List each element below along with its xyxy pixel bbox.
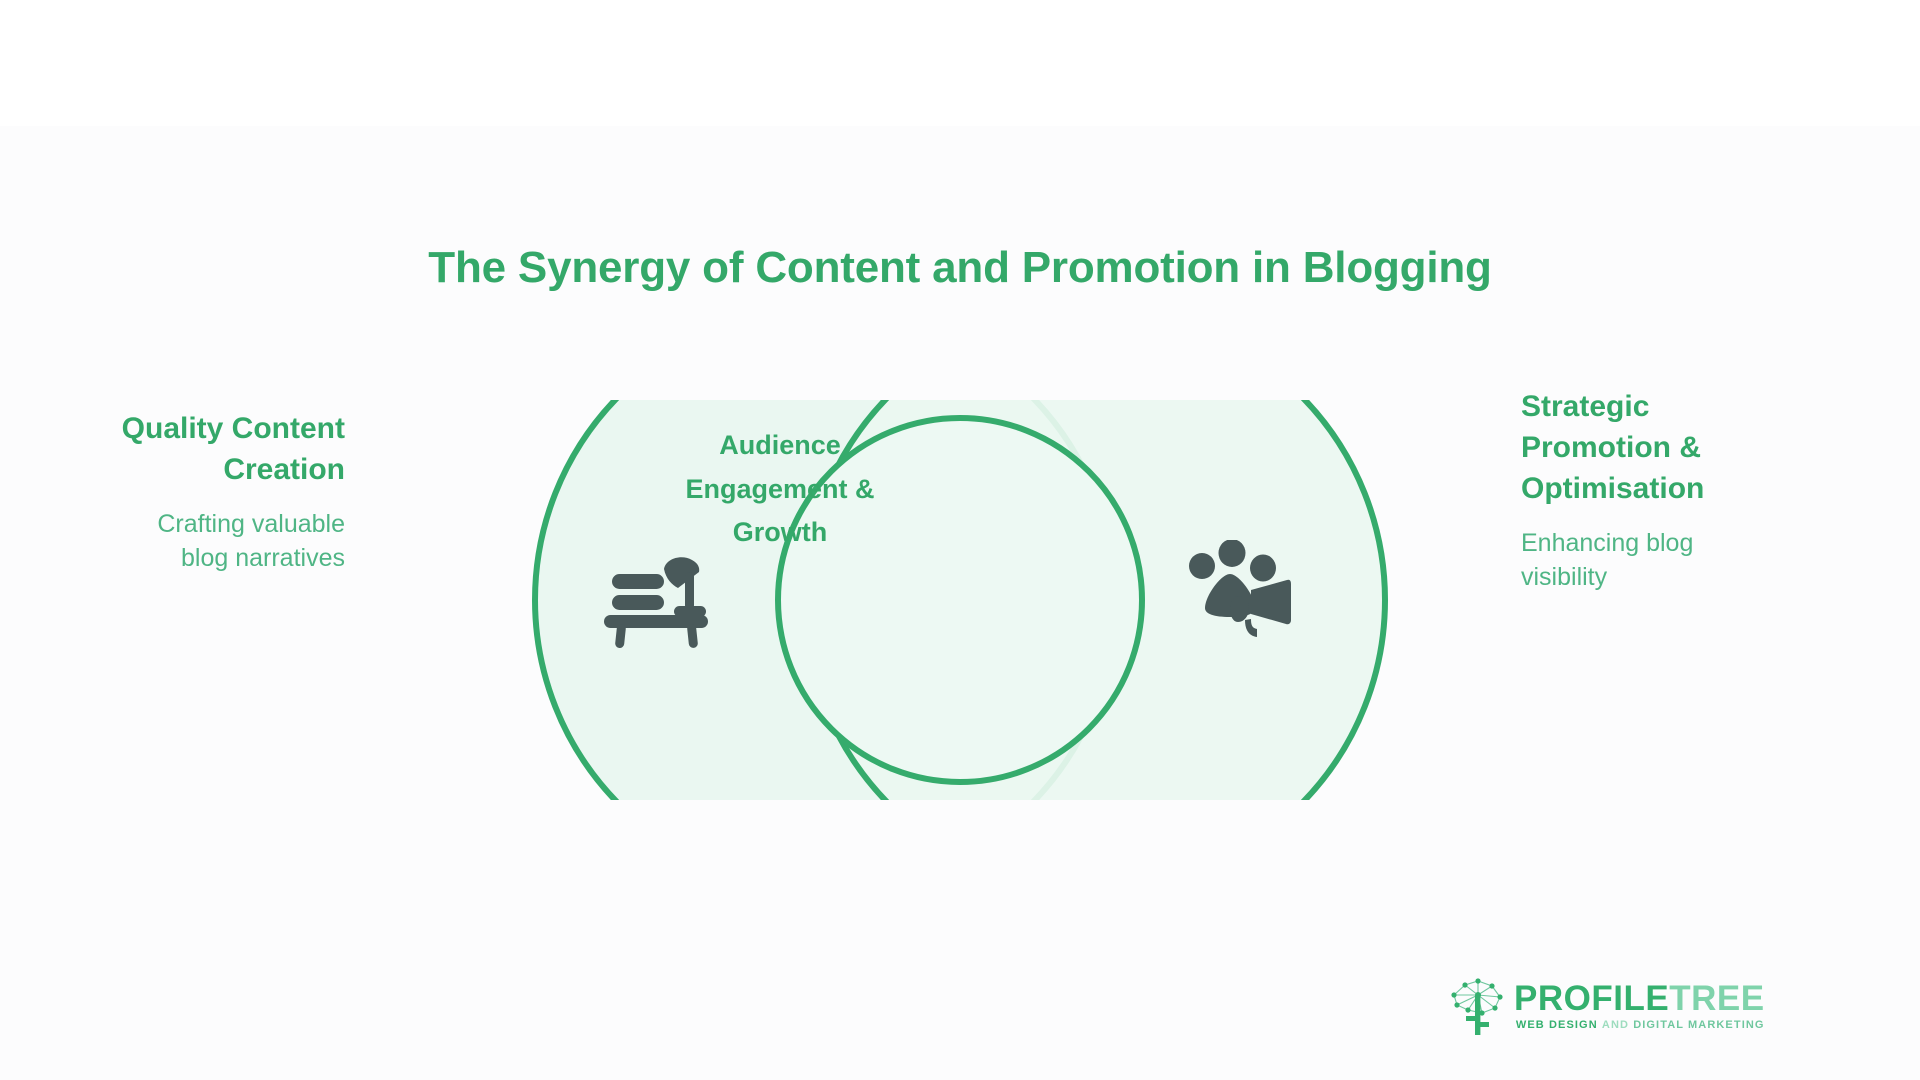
logo-text: PROFILETREE WEB DESIGN AND DIGITAL MARKE… xyxy=(1514,981,1765,1031)
logo-word-light: TREE xyxy=(1669,979,1764,1018)
infographic-canvas: The Synergy of Content and Promotion in … xyxy=(0,0,1920,1080)
logo-word-bold: PROFILE xyxy=(1514,979,1669,1018)
left-heading: Quality Content Creation xyxy=(45,408,345,490)
logo-tagline-part1: WEB DESIGN xyxy=(1516,1019,1598,1031)
venn-center-circle xyxy=(778,418,1142,782)
left-subtitle: Crafting valuable blog narratives xyxy=(45,508,345,576)
right-heading-line1: Strategic xyxy=(1521,386,1821,427)
right-subtitle: Enhancing blog visibility xyxy=(1521,527,1821,595)
logo-tagline: WEB DESIGN AND DIGITAL MARKETING xyxy=(1514,1020,1765,1031)
right-subtitle-line1: Enhancing blog xyxy=(1521,527,1821,561)
right-subtitle-line2: visibility xyxy=(1521,561,1821,595)
right-heading: Strategic Promotion & Optimisation xyxy=(1521,386,1821,509)
desk-lamp-books-icon xyxy=(596,545,716,655)
logo-wordmark: PROFILETREE xyxy=(1514,981,1765,1016)
logo-tagline-part2: AND xyxy=(1602,1019,1629,1031)
profiletree-logo: PROFILETREE WEB DESIGN AND DIGITAL MARKE… xyxy=(1448,975,1765,1037)
page-title: The Synergy of Content and Promotion in … xyxy=(0,244,1920,292)
tree-network-icon xyxy=(1448,975,1506,1037)
right-concept-block: Strategic Promotion & Optimisation Enhan… xyxy=(1521,386,1821,595)
left-heading-line2: Creation xyxy=(45,449,345,490)
left-subtitle-line1: Crafting valuable xyxy=(45,508,345,542)
right-heading-line2: Promotion & xyxy=(1521,427,1821,468)
megaphone-audience-icon xyxy=(1180,535,1300,645)
left-heading-line1: Quality Content xyxy=(45,408,345,449)
logo-tagline-part3: DIGITAL MARKETING xyxy=(1633,1019,1764,1031)
right-heading-line3: Optimisation xyxy=(1521,468,1821,509)
left-subtitle-line2: blog narratives xyxy=(45,542,345,576)
left-concept-block: Quality Content Creation Crafting valuab… xyxy=(45,408,345,576)
